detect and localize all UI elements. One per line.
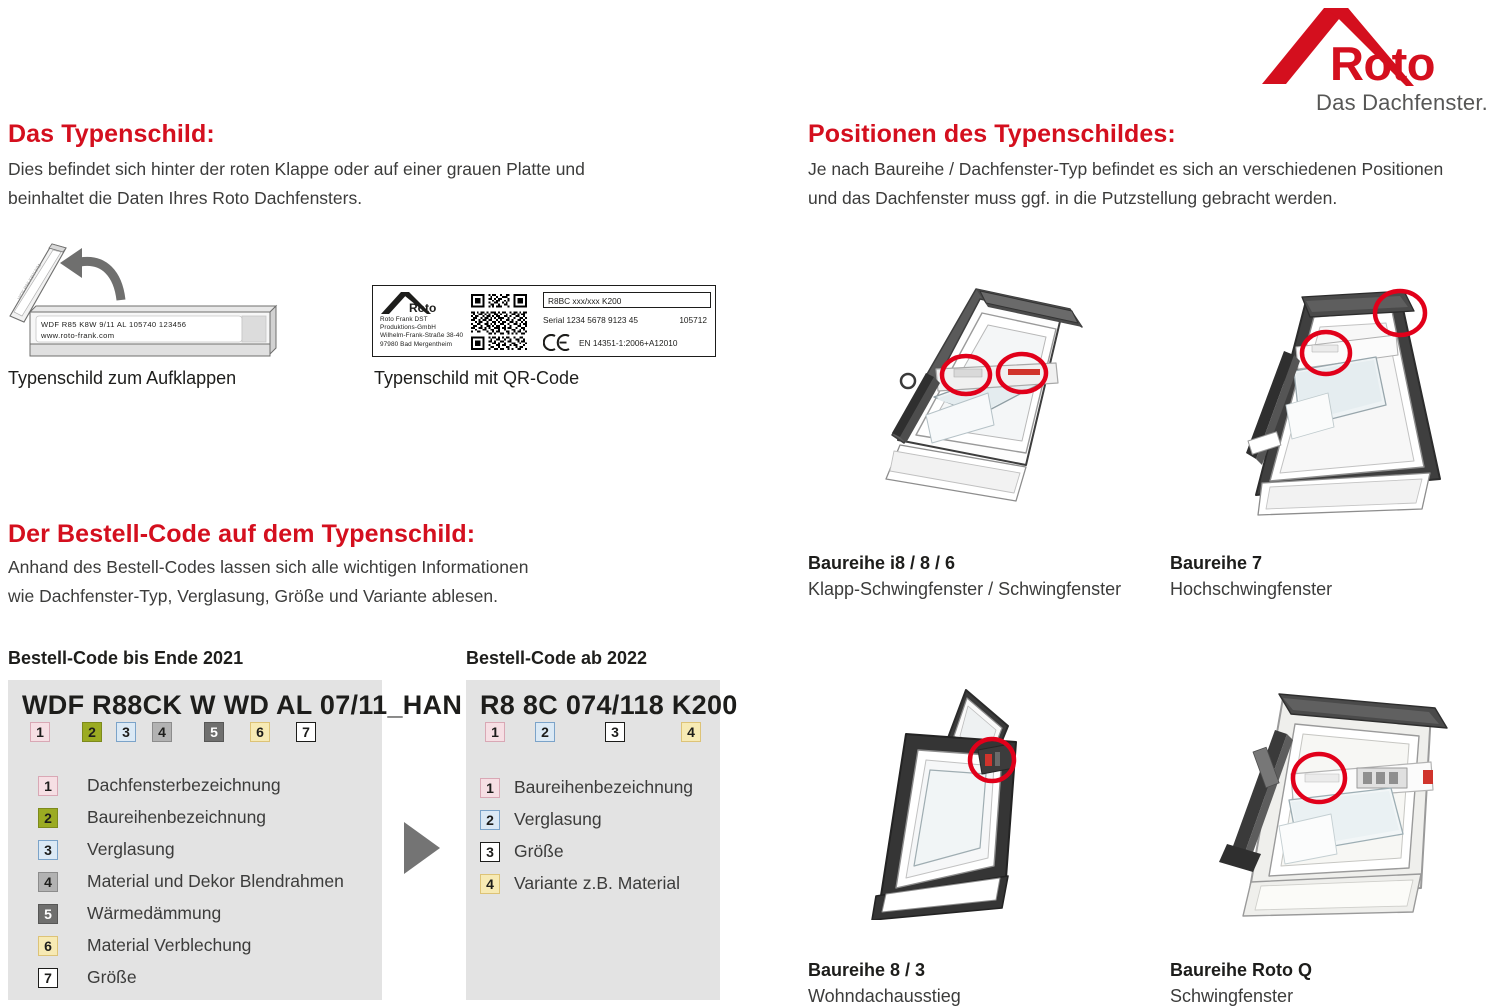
legend-item: 1Baureihenbezeichnung — [480, 777, 693, 798]
legend-item: 3Größe — [480, 841, 564, 862]
legend-label: Größe — [87, 967, 137, 988]
legend-item: 4Material und Dekor Blendrahmen — [38, 871, 344, 892]
legend-item: 4Variante z.B. Material — [480, 873, 680, 894]
positionen-body-line2: und das Dachfenster muss ggf. in die Put… — [808, 184, 1488, 213]
window-title-7: Baureihe 7 — [1170, 553, 1262, 574]
window-subtitle-7: Hochschwingfenster — [1170, 579, 1332, 600]
bestellcode-body-line2: wie Dachfenster-Typ, Verglasung, Größe u… — [8, 582, 568, 611]
plate-address-line4: 97980 Bad Mergentheim — [380, 341, 463, 349]
legend-label: Baureihenbezeichnung — [87, 807, 266, 828]
heading-positionen: Positionen des Typenschildes: — [808, 120, 1176, 149]
plate-address-line3: Wilhelm-Frank-Straße 38-40 — [380, 332, 463, 340]
window-photo-7 — [1200, 265, 1470, 525]
plate-data-block: R8BC xxx/xxx K200 Serial 1234 5678 9123 … — [543, 292, 711, 351]
badge-new-4: 4 — [681, 722, 701, 742]
arrow-right-icon — [404, 822, 440, 874]
legend-badge-3: 3 — [480, 842, 500, 862]
legend-item: 2Verglasung — [480, 809, 602, 830]
legend-item: 7Größe — [38, 967, 137, 988]
typenschild-body-line1: Dies befindet sich hinter der roten Klap… — [8, 155, 608, 184]
foldout-label-line1: WDF R85 K8W 9/11 AL 105740 123456 — [41, 320, 186, 329]
plate-roto-logo-icon: Roto — [379, 290, 457, 316]
window-title-roto-q: Baureihe Roto Q — [1170, 960, 1312, 981]
legend-badge-1: 1 — [38, 776, 58, 796]
title-bestellcode-old: Bestell-Code bis Ende 2021 — [8, 648, 243, 669]
badge-old-1: 1 — [30, 722, 50, 742]
window-photo-roto-q — [1195, 668, 1475, 918]
legend-badge-3: 3 — [38, 840, 58, 860]
caption-typenschild-aufklappen: Typenschild zum Aufklappen — [8, 368, 236, 389]
window-title-i8-8-6: Baureihe i8 / 8 / 6 — [808, 553, 955, 574]
legend-label: Variante z.B. Material — [514, 873, 680, 894]
roto-logo: Roto Das Dachfenster. — [1262, 8, 1490, 116]
legend-badge-4: 4 — [480, 874, 500, 894]
legend-label: Verglasung — [514, 809, 602, 830]
bestellcode-old-badge-row: 1 2 3 4 5 6 7 — [22, 722, 382, 744]
window-subtitle-i8-8-6: Klapp-Schwingfenster / Schwingfenster — [808, 579, 1121, 600]
legend-label: Verglasung — [87, 839, 175, 860]
legend-label: Größe — [514, 841, 564, 862]
caption-typenschild-qr: Typenschild mit QR-Code — [374, 368, 579, 389]
bestellcode-new-badge-row: 1 2 3 4 — [480, 722, 720, 744]
plate-address-line1: Roto Frank DST — [380, 316, 463, 324]
window-photo-i8-8-6 — [830, 265, 1100, 525]
badge-old-2: 2 — [82, 722, 102, 742]
foldout-label-line2: www.roto-frank.com — [40, 331, 114, 340]
svg-text:Roto: Roto — [409, 301, 436, 315]
plate-address-line2: Produktions-GmbH — [380, 324, 463, 332]
badge-old-7: 7 — [296, 722, 316, 742]
positionen-body-line1: Je nach Baureihe / Dachfenster-Typ befin… — [808, 155, 1488, 184]
foldout-label-illustration: WDF R85 K8W 9/11 WDF R85 K8W 9/11 AL 105… — [8, 238, 278, 368]
legend-item: 5Wärmedämmung — [38, 903, 221, 924]
ce-mark-icon — [543, 334, 573, 351]
plate-norm-row: EN 14351-1:2006+A12010 — [543, 334, 711, 351]
badge-old-3: 3 — [116, 722, 136, 742]
legend-badge-7: 7 — [38, 968, 58, 988]
legend-badge-5: 5 — [38, 904, 58, 924]
qr-type-plate: Roto Roto Frank DST Produktions-GmbH Wil… — [372, 285, 716, 357]
legend-label: Material und Dekor Blendrahmen — [87, 871, 344, 892]
legend-badge-4: 4 — [38, 872, 58, 892]
legend-label: Material Verblechung — [87, 935, 251, 956]
window-photo-8-3 — [830, 670, 1100, 920]
plate-serial: Serial 1234 5678 9123 45 — [543, 315, 638, 325]
document-page: Roto Das Dachfenster. Das Typenschild: D… — [0, 0, 1500, 1004]
heading-bestellcode: Der Bestell-Code auf dem Typenschild: — [8, 520, 475, 549]
bestellcode-new-code: R8 8C 074/118 K200 — [480, 690, 738, 721]
legend-badge-6: 6 — [38, 936, 58, 956]
legend-badge-2: 2 — [38, 808, 58, 828]
title-bestellcode-new: Bestell-Code ab 2022 — [466, 648, 647, 669]
label-body: WDF R85 K8W 9/11 AL 105740 123456 www.ro… — [30, 306, 276, 356]
bestellcode-old-code: WDF R88CK W WD AL 07/11_HAN — [22, 690, 462, 721]
badge-old-4: 4 — [152, 722, 172, 742]
legend-label: Dachfensterbezeichnung — [87, 775, 281, 796]
rotate-arrow-icon — [60, 248, 121, 300]
bestellcode-body-line1: Anhand des Bestell-Codes lassen sich all… — [8, 553, 568, 582]
badge-new-2: 2 — [535, 722, 555, 742]
legend-item: 3Verglasung — [38, 839, 175, 860]
legend-badge-1: 1 — [480, 778, 500, 798]
logo-tagline: Das Dachfenster. — [1316, 90, 1488, 116]
legend-item: 2Baureihenbezeichnung — [38, 807, 266, 828]
badge-new-1: 1 — [485, 722, 505, 742]
logo-wordmark: Roto — [1330, 36, 1435, 91]
legend-badge-2: 2 — [480, 810, 500, 830]
typenschild-body-line2: beinhaltet die Daten Ihres Roto Dachfens… — [8, 184, 608, 213]
badge-old-6: 6 — [250, 722, 270, 742]
plate-serial-row: Serial 1234 5678 9123 45 105712 — [543, 315, 711, 325]
legend-label: Wärmedämmung — [87, 903, 221, 924]
badge-old-5: 5 — [204, 722, 224, 742]
legend-item: 6Material Verblechung — [38, 935, 251, 956]
plate-order-code: R8BC xxx/xxx K200 — [543, 292, 711, 308]
window-title-8-3: Baureihe 8 / 3 — [808, 960, 925, 981]
legend-label: Baureihenbezeichnung — [514, 777, 693, 798]
badge-new-3: 3 — [605, 722, 625, 742]
qr-code-icon — [471, 294, 527, 350]
plate-address: Roto Frank DST Produktions-GmbH Wilhelm-… — [380, 316, 463, 349]
legend-item: 1Dachfensterbezeichnung — [38, 775, 281, 796]
plate-norm: EN 14351-1:2006+A12010 — [579, 338, 678, 348]
heading-typenschild: Das Typenschild: — [8, 120, 215, 149]
plate-serial-number: 105712 — [679, 315, 707, 325]
